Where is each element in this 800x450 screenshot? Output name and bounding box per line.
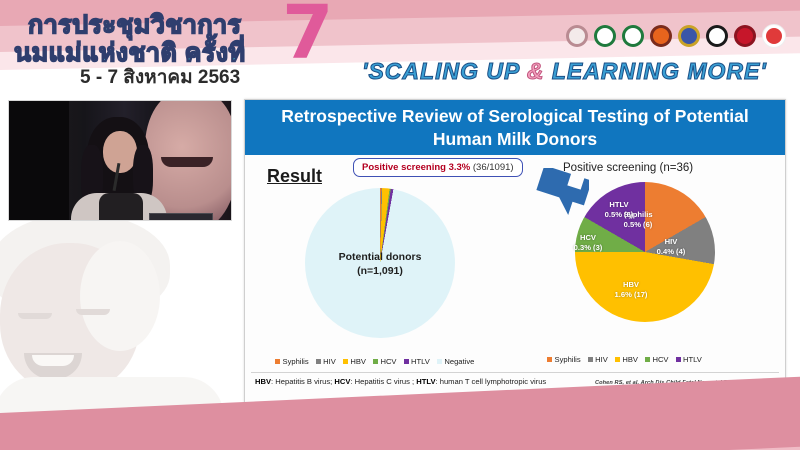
result-heading: Result	[267, 166, 322, 187]
tagline-ampersand: &	[527, 58, 545, 84]
baby-right-eye	[76, 309, 110, 315]
conference-header-banner: การประชุมวิชาการ นมแม่แห่งชาติ ครั้งที่ …	[0, 0, 800, 95]
left-pie-label-line1: Potential donors	[305, 250, 455, 264]
sponsor-logo-row	[566, 24, 786, 48]
legend-swatch-htlv-r	[676, 357, 681, 362]
footnote-htlv-abbrev: HTLV	[416, 377, 435, 386]
legend-label-htlv: HTLV	[411, 357, 430, 366]
legend-swatch-hbv-r	[615, 357, 620, 362]
footnote-hbv-text: : Hepatitis B virus;	[271, 377, 334, 386]
baby-hat-brim-shape	[80, 241, 160, 351]
speaker-face	[103, 131, 137, 173]
logo-royal-thai-emblem	[678, 25, 700, 47]
speaker-vest	[99, 193, 143, 221]
legend-label-hiv: HIV	[323, 357, 336, 366]
slice-name-hcv: HCV	[567, 233, 609, 243]
pie-slice-label-htlv: HTLV 0.5% (6)	[597, 200, 641, 220]
tagline-part1: 'SCALING UP	[362, 58, 527, 84]
left-pie-label-line2: (n=1,091)	[305, 264, 455, 278]
legend-swatch-hbv	[343, 359, 348, 364]
slice-name-htlv: HTLV	[597, 200, 641, 210]
slice-value-hiv: 0.4% (4)	[649, 247, 693, 257]
footnote-hbv-abbrev: HBV	[255, 377, 271, 386]
footnote-divider	[251, 372, 779, 373]
slide-title: Retrospective Review of Serological Test…	[245, 100, 785, 155]
logo-ministry-public-health-green	[594, 25, 616, 47]
legend-item-hcv-right: HCV	[645, 355, 669, 364]
slice-value-syphilis: 0.5% (6)	[612, 220, 664, 230]
callout-detail-text: (36/1091)	[473, 162, 514, 173]
legend-item-htlv-left: HTLV	[404, 357, 430, 366]
footnote-htlv-text: : human T cell lymphotropic virus	[436, 377, 547, 386]
legend-swatch-hcv	[373, 359, 378, 364]
positive-screening-callout: Positive screening 3.3% (36/1091)	[353, 158, 523, 177]
legend-swatch-hcv-r	[645, 357, 650, 362]
speaker-video-feed[interactable]	[8, 100, 232, 221]
conference-date: 5 - 7 สิงหาคม 2563	[80, 62, 240, 92]
legend-item-htlv-right: HTLV	[676, 355, 702, 364]
video-left-dark-area	[9, 101, 69, 220]
legend-label-syphilis: Syphilis	[283, 357, 309, 366]
baby-left-eye	[18, 313, 52, 319]
legend-swatch-hiv	[316, 359, 321, 364]
footnote-hcv-text: : Hepatitis C virus ;	[350, 377, 416, 386]
pie-slice-label-hbv: HBV 1.6% (17)	[605, 280, 657, 300]
legend-label-hbv-r: HBV	[622, 355, 638, 364]
left-chart-legend: Syphilis HIV HBV HCV HTLV Negative	[275, 357, 474, 366]
legend-swatch-syphilis	[275, 359, 280, 364]
legend-swatch-htlv	[404, 359, 409, 364]
logo-red-crest	[734, 25, 756, 47]
legend-label-hiv-r: HIV	[595, 355, 608, 364]
logo-sss-thaihealth	[762, 24, 786, 48]
legend-item-syphilis-left: Syphilis	[275, 357, 309, 366]
laptop-on-podium	[149, 213, 213, 221]
logo-black-circle-emblem	[706, 25, 728, 47]
legend-item-syphilis-right: Syphilis	[547, 355, 581, 364]
right-chart-legend: Syphilis HIV HBV HCV HTLV	[547, 355, 702, 364]
legend-label-syphilis-r: Syphilis	[555, 355, 581, 364]
pie-slice-label-hiv: HIV 0.4% (4)	[649, 237, 693, 257]
baby-watermark-image	[0, 205, 244, 415]
right-pie-chart-title: Positive screening (n=36)	[563, 162, 693, 174]
pie-slice-label-hcv: HCV 0.3% (3)	[567, 233, 609, 253]
legend-item-hiv-left: HIV	[316, 357, 336, 366]
logo-thai-health-green	[622, 25, 644, 47]
footnote-hcv-abbrev: HCV	[334, 377, 350, 386]
logo-royal-seal	[566, 25, 588, 47]
legend-item-negative-left: Negative	[437, 357, 474, 366]
legend-item-hcv-left: HCV	[373, 357, 397, 366]
legend-label-htlv-r: HTLV	[683, 355, 702, 364]
slide-footnote-abbreviations: HBV: Hepatitis B virus; HCV: Hepatitis C…	[255, 377, 546, 386]
legend-swatch-syphilis-r	[547, 357, 552, 362]
slice-value-htlv: 0.5% (6)	[597, 210, 641, 220]
legend-item-hbv-right: HBV	[615, 355, 638, 364]
baby-teeth	[32, 355, 74, 366]
logo-garuda-orange	[650, 25, 672, 47]
slide-content-panel: Retrospective Review of Serological Test…	[244, 99, 786, 404]
legend-label-hbv: HBV	[350, 357, 366, 366]
conference-edition-number: 7	[282, 0, 334, 70]
legend-item-hiv-right: HIV	[588, 355, 608, 364]
video-projected-baby-eye	[161, 157, 213, 167]
presentation-screen: การประชุมวิชาการ นมแม่แห่งชาติ ครั้งที่ …	[0, 0, 800, 450]
callout-highlight-text: Positive screening 3.3%	[362, 162, 470, 173]
slice-value-hcv: 0.3% (3)	[567, 243, 609, 253]
tagline-part2: LEARNING MORE'	[544, 58, 766, 84]
legend-label-hcv-r: HCV	[652, 355, 668, 364]
slice-value-hbv: 1.6% (17)	[605, 290, 657, 300]
left-pie-center-label: Potential donors (n=1,091)	[305, 250, 455, 278]
slice-name-hbv: HBV	[605, 280, 657, 290]
legend-label-negative: Negative	[444, 357, 474, 366]
blue-arrow-icon	[535, 168, 589, 216]
slice-name-hiv: HIV	[649, 237, 693, 247]
legend-label-hcv: HCV	[380, 357, 396, 366]
legend-swatch-hiv-r	[588, 357, 593, 362]
legend-item-hbv-left: HBV	[343, 357, 366, 366]
conference-tagline: 'SCALING UP & LEARNING MORE'	[362, 58, 767, 85]
legend-swatch-negative	[437, 359, 442, 364]
